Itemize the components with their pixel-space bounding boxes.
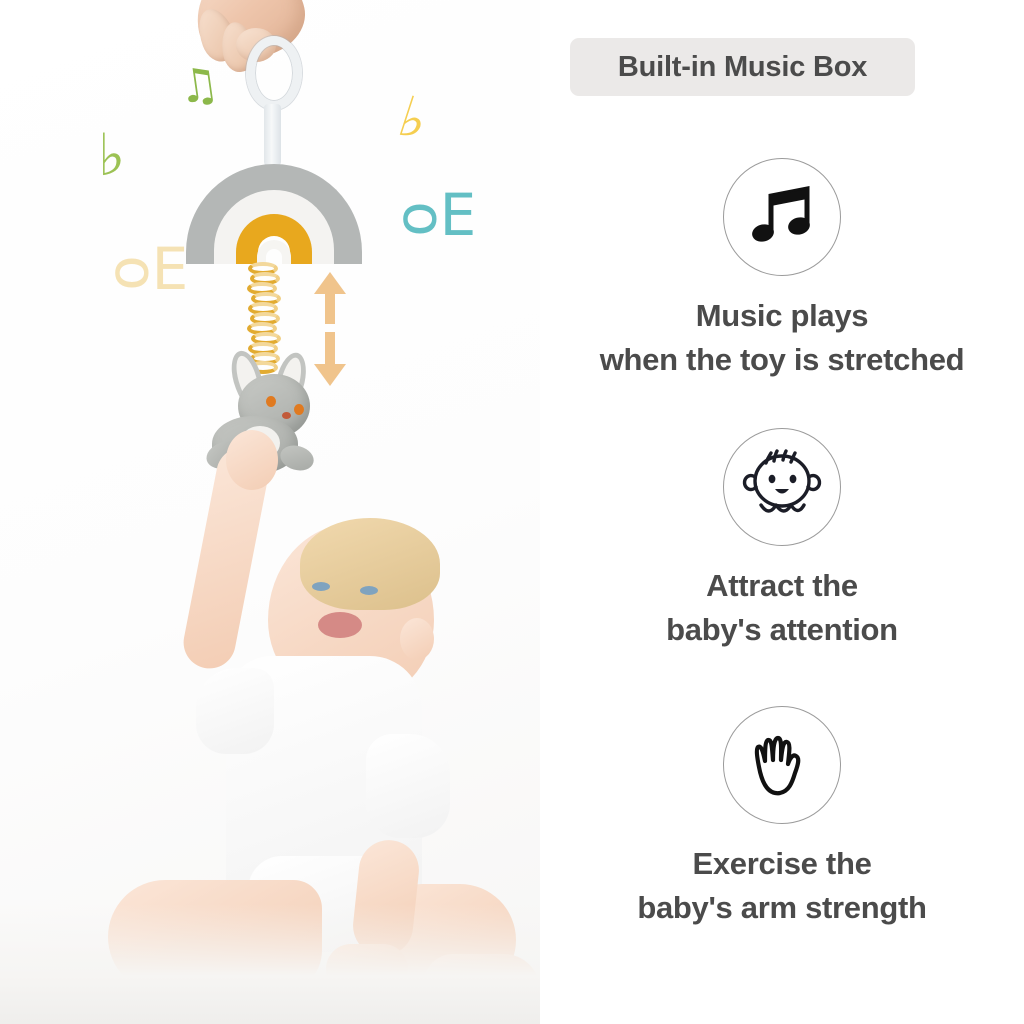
baby-photo	[0, 0, 540, 1024]
baby-eye-left	[312, 582, 330, 591]
baby-ear	[400, 618, 434, 660]
badge-label: Built-in Music Box	[618, 51, 867, 84]
feature-attract-line2: baby's attention	[540, 608, 1024, 652]
feature-attract-line1: Attract the	[540, 564, 1024, 608]
baby-eye-right	[360, 586, 378, 595]
music-notes-icon	[723, 158, 841, 276]
baby-hand	[226, 430, 278, 490]
feature-exercise-line1: Exercise the	[540, 842, 1024, 886]
feature-music-line1: Music plays	[540, 294, 1024, 338]
feature-exercise-caption: Exercise the baby's arm strength	[540, 842, 1024, 930]
feature-attract-caption: Attract the baby's attention	[540, 564, 1024, 652]
baby-hair	[300, 518, 440, 610]
open-hand-icon	[723, 706, 841, 824]
feature-music-caption: Music plays when the toy is stretched	[540, 294, 1024, 382]
baby-sleeve-right	[366, 734, 450, 838]
product-photo-panel: ♫♭ᴑE♭ᴑE	[0, 0, 540, 1024]
feature-music-line2: when the toy is stretched	[540, 338, 1024, 382]
floor-blanket	[0, 904, 540, 1024]
built-in-music-box-badge: Built-in Music Box	[570, 38, 915, 96]
product-feature-page: ♫♭ᴑE♭ᴑE	[0, 0, 1024, 1024]
baby-mouth	[318, 612, 362, 638]
feature-arm-strength: Exercise the baby's arm strength	[540, 706, 1024, 930]
baby-sleeve-left	[196, 668, 274, 754]
feature-panel: Built-in Music Box Music plays when the …	[540, 0, 1024, 1024]
feature-music-plays: Music plays when the toy is stretched	[540, 158, 1024, 382]
baby-face-icon	[723, 428, 841, 546]
feature-attract-attention: Attract the baby's attention	[540, 428, 1024, 652]
feature-exercise-line2: baby's arm strength	[540, 886, 1024, 930]
